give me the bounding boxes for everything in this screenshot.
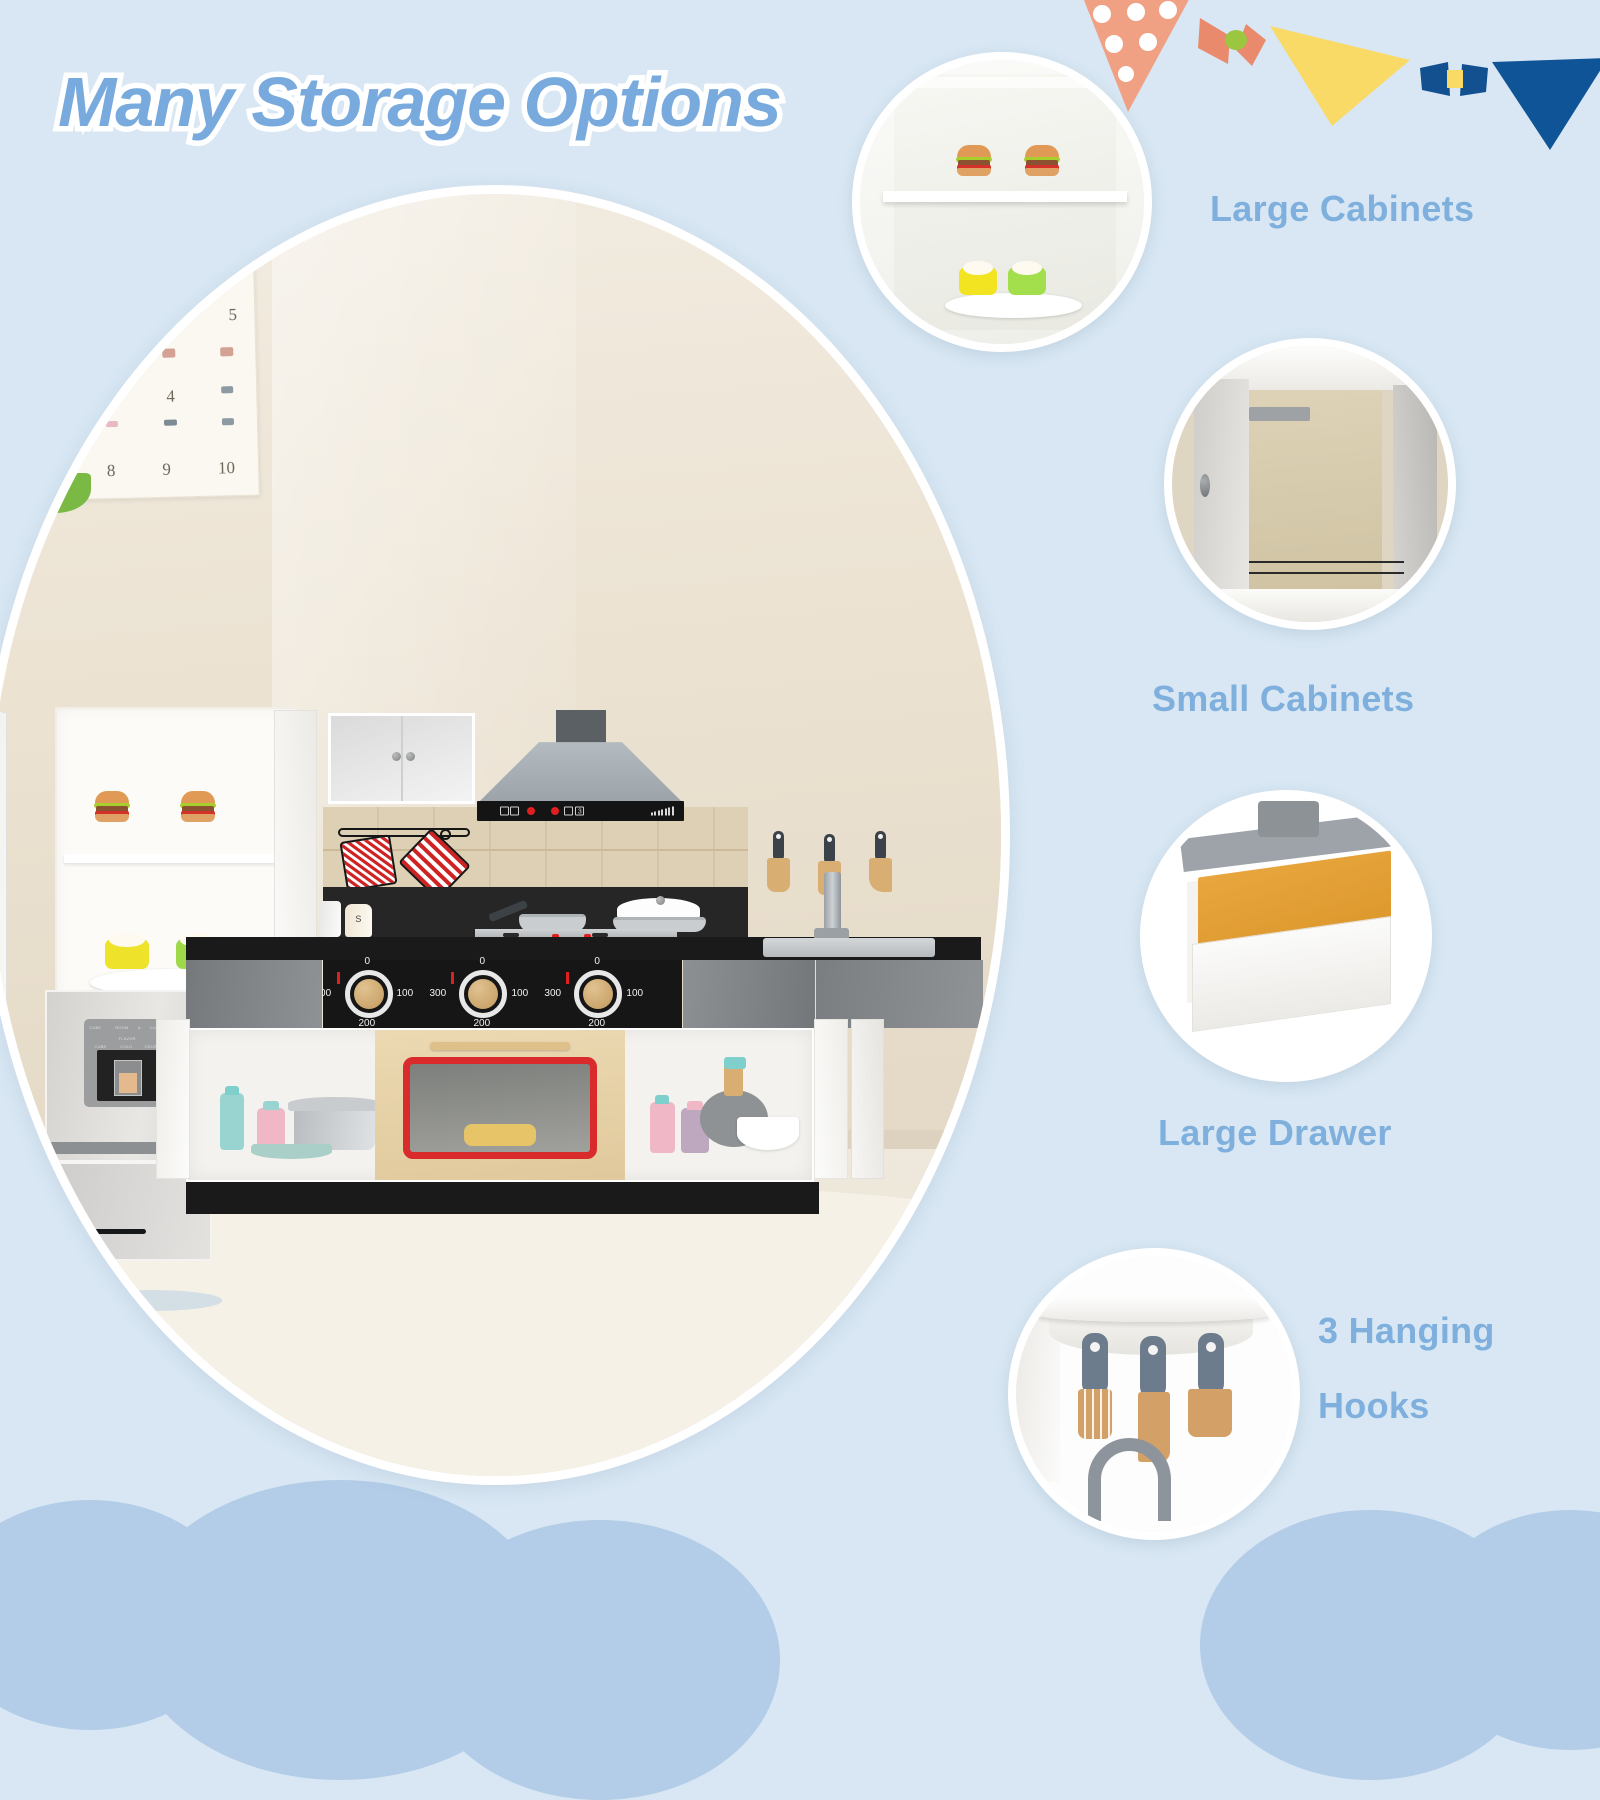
dispenser-recess — [97, 1050, 159, 1101]
drawer-slide-rail — [1249, 407, 1310, 421]
cabinet-shelf — [883, 191, 1127, 202]
lower-cabinet-door-far-right[interactable] — [851, 1019, 883, 1178]
cabinet-knob[interactable] — [392, 752, 401, 761]
stove-control-panel: 0 300 100 200 0 300 100 200 0 — [323, 960, 682, 1028]
poster-number: 9 — [162, 460, 171, 480]
cabinet-top-panel — [888, 77, 1121, 88]
flag-bowtie-salmon — [1198, 18, 1266, 66]
hood-power-button[interactable] — [551, 807, 559, 815]
toy-burger — [957, 145, 991, 175]
oven-mitt — [340, 835, 398, 892]
caption-large-drawer: Large Drawer — [1158, 1112, 1392, 1154]
toy-cake-green — [1008, 267, 1046, 295]
caption-hanging-hooks-line2: Hooks — [1318, 1385, 1430, 1427]
toy-cake-yellow — [959, 267, 997, 295]
range-hood — [477, 742, 684, 804]
toy-cake-yellow — [105, 939, 149, 969]
poster-number: 4 — [166, 387, 175, 407]
half-round-shelf — [1038, 1295, 1270, 1323]
freezer-drawer-handle[interactable] — [91, 1229, 146, 1235]
oven-window — [403, 1057, 598, 1159]
cabinet-shelf-edge — [1249, 572, 1404, 574]
range-hood-duct — [556, 710, 607, 745]
turner-blade — [1188, 1389, 1232, 1437]
toy-saucepan — [294, 1105, 375, 1150]
hanging-hook-arc — [1088, 1438, 1171, 1521]
range-hood-control-panel[interactable]: 3 — [477, 801, 684, 820]
dial-label-100: 100 — [397, 988, 414, 999]
toy-plate — [945, 293, 1081, 319]
countertop-left — [186, 937, 753, 961]
slotted-turner-blade — [1078, 1389, 1112, 1439]
flag-bowtie-blue — [1420, 62, 1488, 96]
lower-open-storage — [186, 1028, 813, 1181]
cabinet-door-left-open[interactable] — [0, 691, 7, 1035]
cabinet-shelf-edge — [1249, 561, 1404, 563]
utensil-handle — [1082, 1333, 1108, 1395]
toy-bottle-pink-2 — [650, 1102, 675, 1153]
flag-yellow-triangle — [1270, 26, 1410, 126]
kitchen-base-plinth — [186, 1182, 819, 1214]
play-kitchen-set: CUBE ROOM IL CUPBOARD FLAVOR CUBE COLD C… — [0, 707, 1001, 1297]
toy-bread — [464, 1124, 536, 1147]
toy-burger — [181, 791, 215, 821]
upper-wall-cabinet[interactable] — [328, 713, 475, 804]
poster-number: 5 — [228, 305, 237, 325]
hook-hole — [1206, 1342, 1216, 1352]
inset-large-drawer — [1140, 790, 1432, 1082]
dial-label-0: 0 — [479, 956, 485, 967]
lower-cabinet-door-right[interactable] — [814, 1019, 848, 1178]
cabinet-panel-left — [186, 960, 322, 1028]
inset-large-cabinets — [852, 52, 1152, 352]
toy-pepper-grinder — [319, 901, 341, 936]
toy-glass — [114, 1060, 141, 1097]
cabinet-knob[interactable] — [1200, 474, 1210, 498]
hero-product-photo: 678910 Animal Numbers 12 345 678910 3 5 — [0, 185, 1010, 1485]
hood-speed-icon — [564, 806, 573, 815]
dial-label-100: 100 — [626, 988, 643, 999]
bunting-decoration — [1080, 0, 1600, 160]
dial-label-100: 100 — [511, 988, 528, 999]
dial-label-300: 300 — [429, 988, 446, 999]
toy-burger — [95, 791, 129, 821]
cabinet-shelf — [64, 854, 289, 863]
cabinet-base-panel — [1172, 589, 1448, 622]
caption-large-cabinets: Large Cabinets — [1210, 188, 1474, 230]
poster-numbers-right: 12 345 678910 — [139, 277, 199, 288]
hood-level-bars-icon — [651, 806, 674, 815]
dial-label-300: 300 — [544, 988, 561, 999]
toy-sink — [763, 938, 935, 957]
cloud-shape — [420, 1520, 780, 1800]
inset-small-cabinets — [1164, 338, 1456, 630]
lower-cabinet-door-left[interactable] — [156, 1019, 190, 1178]
hook-hole — [1090, 1342, 1100, 1352]
oven-handle[interactable] — [430, 1042, 570, 1049]
toy-pot-with-lid — [611, 896, 712, 933]
hood-power-button[interactable] — [527, 807, 535, 815]
poster-number: 3 — [41, 310, 50, 330]
toy-bottle-teal — [220, 1093, 245, 1150]
toy-bowl-mint — [251, 1144, 332, 1159]
utensil-handle — [1198, 1333, 1224, 1395]
hook-hole — [1148, 1345, 1158, 1355]
flag-blue-triangle — [1492, 58, 1600, 150]
toy-oven[interactable] — [375, 1030, 624, 1179]
page-title: Many Storage Options — [58, 62, 781, 142]
toy-bowl-stack — [737, 1117, 799, 1150]
cabinet-interior — [894, 74, 1116, 330]
hood-level-indicator: 3 — [575, 806, 584, 815]
saucepan-lid — [288, 1097, 382, 1110]
cabinet-panel-right — [683, 960, 815, 1028]
cabinet-door-divider — [401, 716, 403, 801]
cabinet-side-wall — [1016, 1317, 1060, 1483]
toy-ice-cubes — [119, 1073, 137, 1093]
toy-burger — [1025, 145, 1059, 175]
cabinet-knob[interactable] — [406, 752, 415, 761]
skillet-handle-tip — [724, 1057, 745, 1069]
dial-label-0: 0 — [594, 956, 600, 967]
dial-label-0: 0 — [365, 956, 371, 967]
caption-small-cabinets: Small Cabinets — [1152, 678, 1414, 720]
poster-number: 10 — [217, 459, 234, 479]
caption-hanging-hooks-line1: 3 Hanging — [1318, 1310, 1495, 1352]
hood-light-icon — [500, 806, 509, 815]
cabinet-panel-far-right — [816, 960, 983, 1028]
hood-fan-icon — [510, 806, 519, 815]
poster-title: Animal Numbers — [0, 279, 75, 297]
house-plant — [0, 386, 121, 553]
utensil-handle — [1140, 1336, 1166, 1398]
appliance-knob-top — [1258, 801, 1319, 837]
inset-hanging-hooks — [1008, 1248, 1300, 1540]
cabinet-door-left[interactable] — [1194, 379, 1249, 594]
toy-salt-shaker: S — [345, 904, 371, 936]
